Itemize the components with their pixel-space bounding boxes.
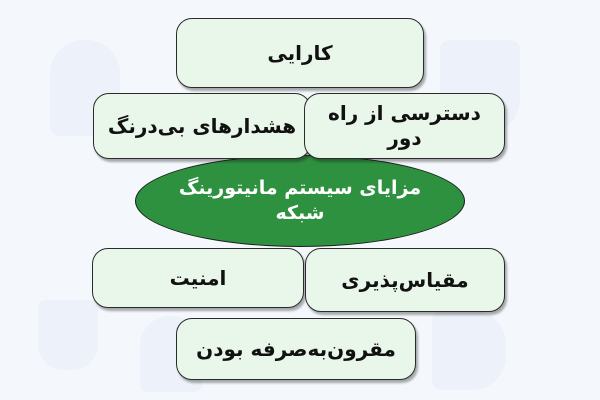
diagram-node-label: امنیت bbox=[170, 266, 227, 291]
diagram-node-maqrun-be-sarfe-budan[interactable]: مقرون‌به‌صرفه بودن bbox=[176, 318, 416, 380]
diagram-center-hub[interactable]: مزایای سیستم مانیتورینگ شبکه bbox=[135, 155, 465, 247]
diagram-node-label: مقیاس‌پذیری bbox=[341, 268, 468, 293]
diagram-node-label: دسترسی از راه دور bbox=[315, 101, 494, 151]
diagram-node-dastresi-az-rah-e-dur[interactable]: دسترسی از راه دور bbox=[304, 93, 505, 159]
diagram-node-karayi[interactable]: کارایی bbox=[176, 18, 424, 88]
diagram-node-hoshdarhaye-bidarang[interactable]: هشدارهای بی‌درنگ bbox=[93, 93, 311, 159]
diagram-node-label: کارایی bbox=[267, 41, 332, 66]
diagram-node-label: مقرون‌به‌صرفه بودن bbox=[196, 337, 396, 362]
diagram-node-meqyas-paziri[interactable]: مقیاس‌پذیری bbox=[305, 248, 505, 312]
diagram-node-amniyat[interactable]: امنیت bbox=[92, 248, 304, 308]
background-watermark-shape bbox=[38, 300, 98, 370]
diagram-canvas: کارایی هشدارهای بی‌درنگ دسترسی از راه دو… bbox=[0, 0, 600, 400]
diagram-center-hub-label: مزایای سیستم مانیتورینگ شبکه bbox=[162, 176, 438, 225]
diagram-node-label: هشدارهای بی‌درنگ bbox=[108, 114, 296, 139]
background-watermark-shape bbox=[432, 310, 506, 390]
